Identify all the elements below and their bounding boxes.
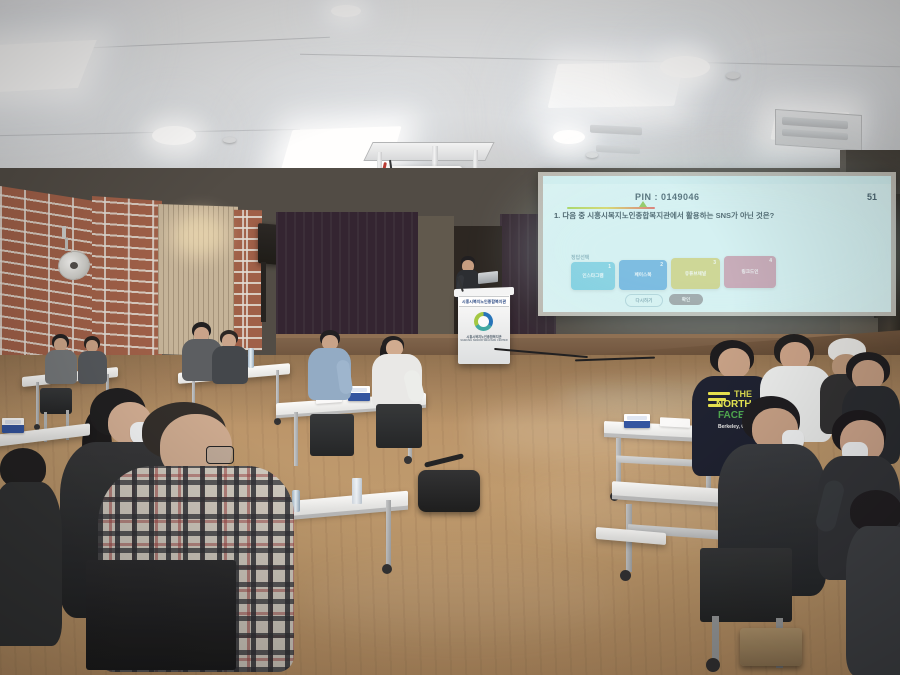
wall-spot-glow (170, 212, 228, 258)
smoke-detector (726, 72, 740, 79)
seminar-room-photo: PIN : 0149046 51 1. 다음 중 시흥시복지노인종합복지관에서 … (0, 0, 900, 675)
attendee-mid-left-2 (212, 330, 250, 386)
table-caster (382, 564, 392, 574)
chair-caster (706, 658, 720, 672)
attendee-torso (0, 482, 62, 646)
speaker-stand-pole (261, 262, 266, 322)
name-tent-text-block (351, 388, 368, 392)
chair (86, 560, 236, 670)
attendee-head (718, 348, 750, 378)
fan-mount-arm (62, 226, 66, 238)
center-logo-inner (478, 316, 489, 327)
name-tent-band (2, 425, 24, 433)
lectern-nameplate-text: 시흥시복지노인종합복지관 (462, 299, 506, 305)
attendee-far-left-foreground (0, 448, 70, 648)
chair (700, 548, 792, 622)
table-caster (404, 456, 412, 464)
attendee-white-coat (372, 336, 426, 414)
name-tent-text-block (5, 420, 22, 424)
chair (310, 414, 354, 456)
attendee-back-left-1 (44, 334, 78, 386)
attendee-torso (45, 350, 77, 384)
attendee-blue-shirt (308, 330, 352, 404)
presenter-laptop (478, 271, 498, 284)
table-leg (36, 382, 39, 426)
smoke-detector (223, 137, 236, 143)
wall-mounted-fan (56, 248, 90, 282)
rear-wall-panel (418, 216, 454, 344)
screen-light-bloom (520, 160, 900, 340)
paper-cup (352, 478, 362, 504)
floor-light-reflection (300, 560, 620, 640)
chair (376, 404, 422, 448)
ceiling-downlight (331, 5, 361, 17)
fan-hub (70, 262, 78, 269)
attendee-right-foreground (846, 490, 900, 675)
name-tent-card (2, 418, 24, 433)
name-tent-card (624, 414, 650, 428)
name-tent-text-block (627, 416, 647, 420)
ceiling-downlight (660, 56, 710, 78)
table-caster (620, 570, 631, 581)
lectern-nameplate: 시흥시복지노인종합복지관 (459, 296, 509, 307)
ceiling-downlight (553, 130, 585, 144)
fan-bracket (65, 238, 68, 251)
basket-bag (740, 628, 802, 666)
table-leg (386, 500, 391, 566)
smoke-detector (586, 152, 598, 158)
attendee-torso (212, 346, 248, 384)
center-logo-caption-en: SIHEUNG SENIOR WELFARE CENTER (459, 339, 509, 342)
shoulder-bag (418, 470, 480, 512)
handout-paper (660, 417, 690, 428)
attendee-torso (846, 526, 900, 675)
ceiling-downlight (152, 126, 196, 145)
name-tent-band (624, 421, 650, 428)
eyeglasses (206, 446, 234, 464)
attendee-back-left-2 (78, 336, 108, 386)
attendee-torso (78, 351, 107, 384)
